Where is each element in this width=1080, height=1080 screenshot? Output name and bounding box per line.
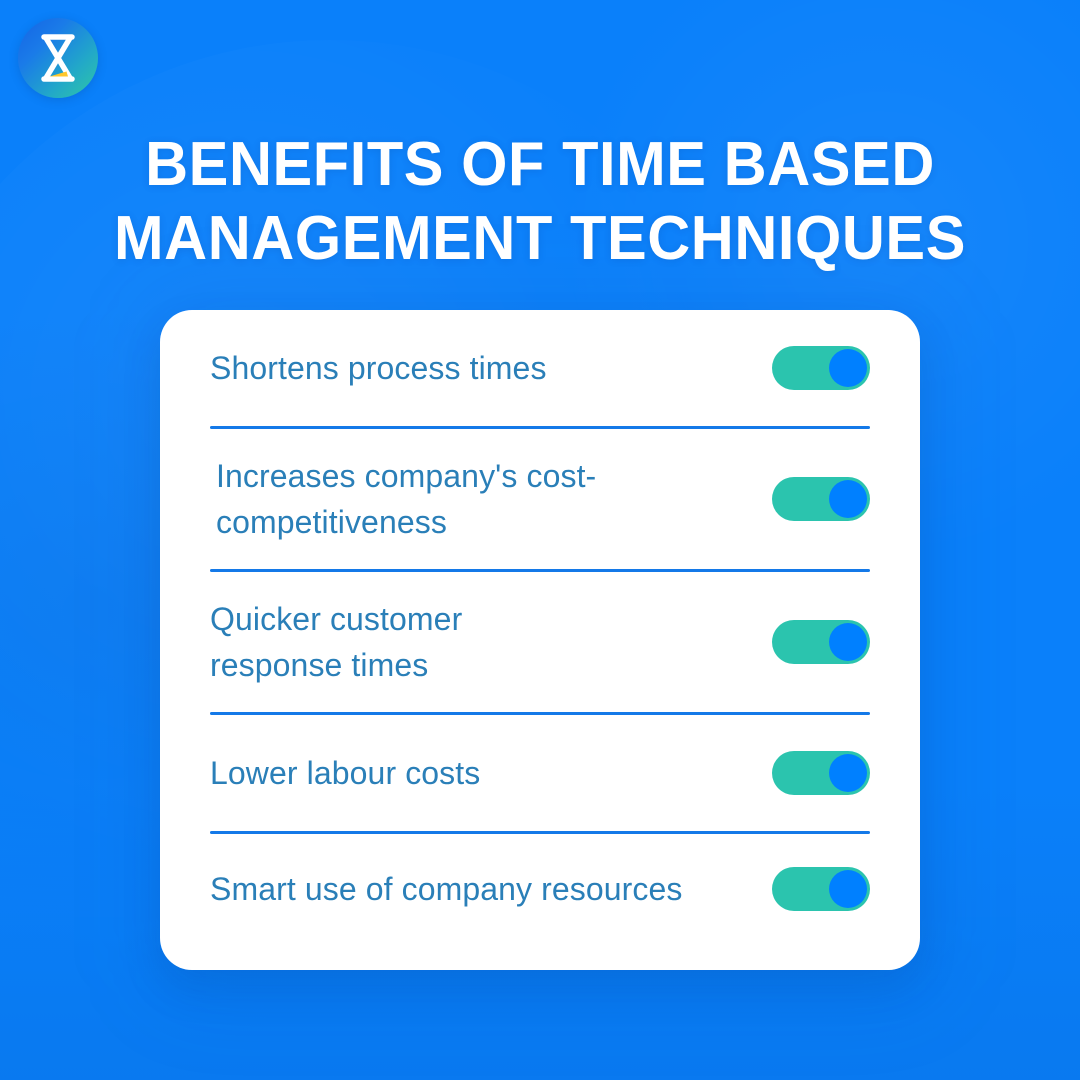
page-title-line-2: MANAGEMENT TECHNIQUES xyxy=(79,202,1001,276)
hourglass-icon xyxy=(32,30,84,86)
benefit-label: Smart use of company resources xyxy=(210,866,754,912)
benefit-row[interactable]: Quicker customer response times xyxy=(210,572,870,712)
benefit-toggle[interactable] xyxy=(772,867,870,911)
benefit-row[interactable]: Shortens process times xyxy=(210,310,870,426)
toggle-knob-icon xyxy=(829,623,867,661)
toggle-knob-icon xyxy=(829,349,867,387)
benefit-label: Shortens process times xyxy=(210,345,754,391)
benefit-label: Lower labour costs xyxy=(210,750,754,796)
benefit-label: Increases company's cost- competitivenes… xyxy=(210,453,754,545)
benefit-toggle[interactable] xyxy=(772,620,870,664)
benefits-card: Shortens process times Increases company… xyxy=(160,310,920,970)
benefit-row[interactable]: Lower labour costs xyxy=(210,715,870,831)
benefit-toggle[interactable] xyxy=(772,346,870,390)
benefit-toggle[interactable] xyxy=(772,751,870,795)
page-title-line-1: BENEFITS OF TIME BASED xyxy=(79,128,1001,202)
benefit-toggle[interactable] xyxy=(772,477,870,521)
benefit-label: Quicker customer response times xyxy=(210,596,754,688)
benefit-row[interactable]: Smart use of company resources xyxy=(210,834,870,944)
page-title: BENEFITS OF TIME BASED MANAGEMENT TECHNI… xyxy=(0,128,1080,276)
toggle-knob-icon xyxy=(829,754,867,792)
benefit-row[interactable]: Increases company's cost- competitivenes… xyxy=(210,429,870,569)
toggle-knob-icon xyxy=(829,870,867,908)
toggle-knob-icon xyxy=(829,480,867,518)
brand-logo-badge xyxy=(18,18,98,98)
